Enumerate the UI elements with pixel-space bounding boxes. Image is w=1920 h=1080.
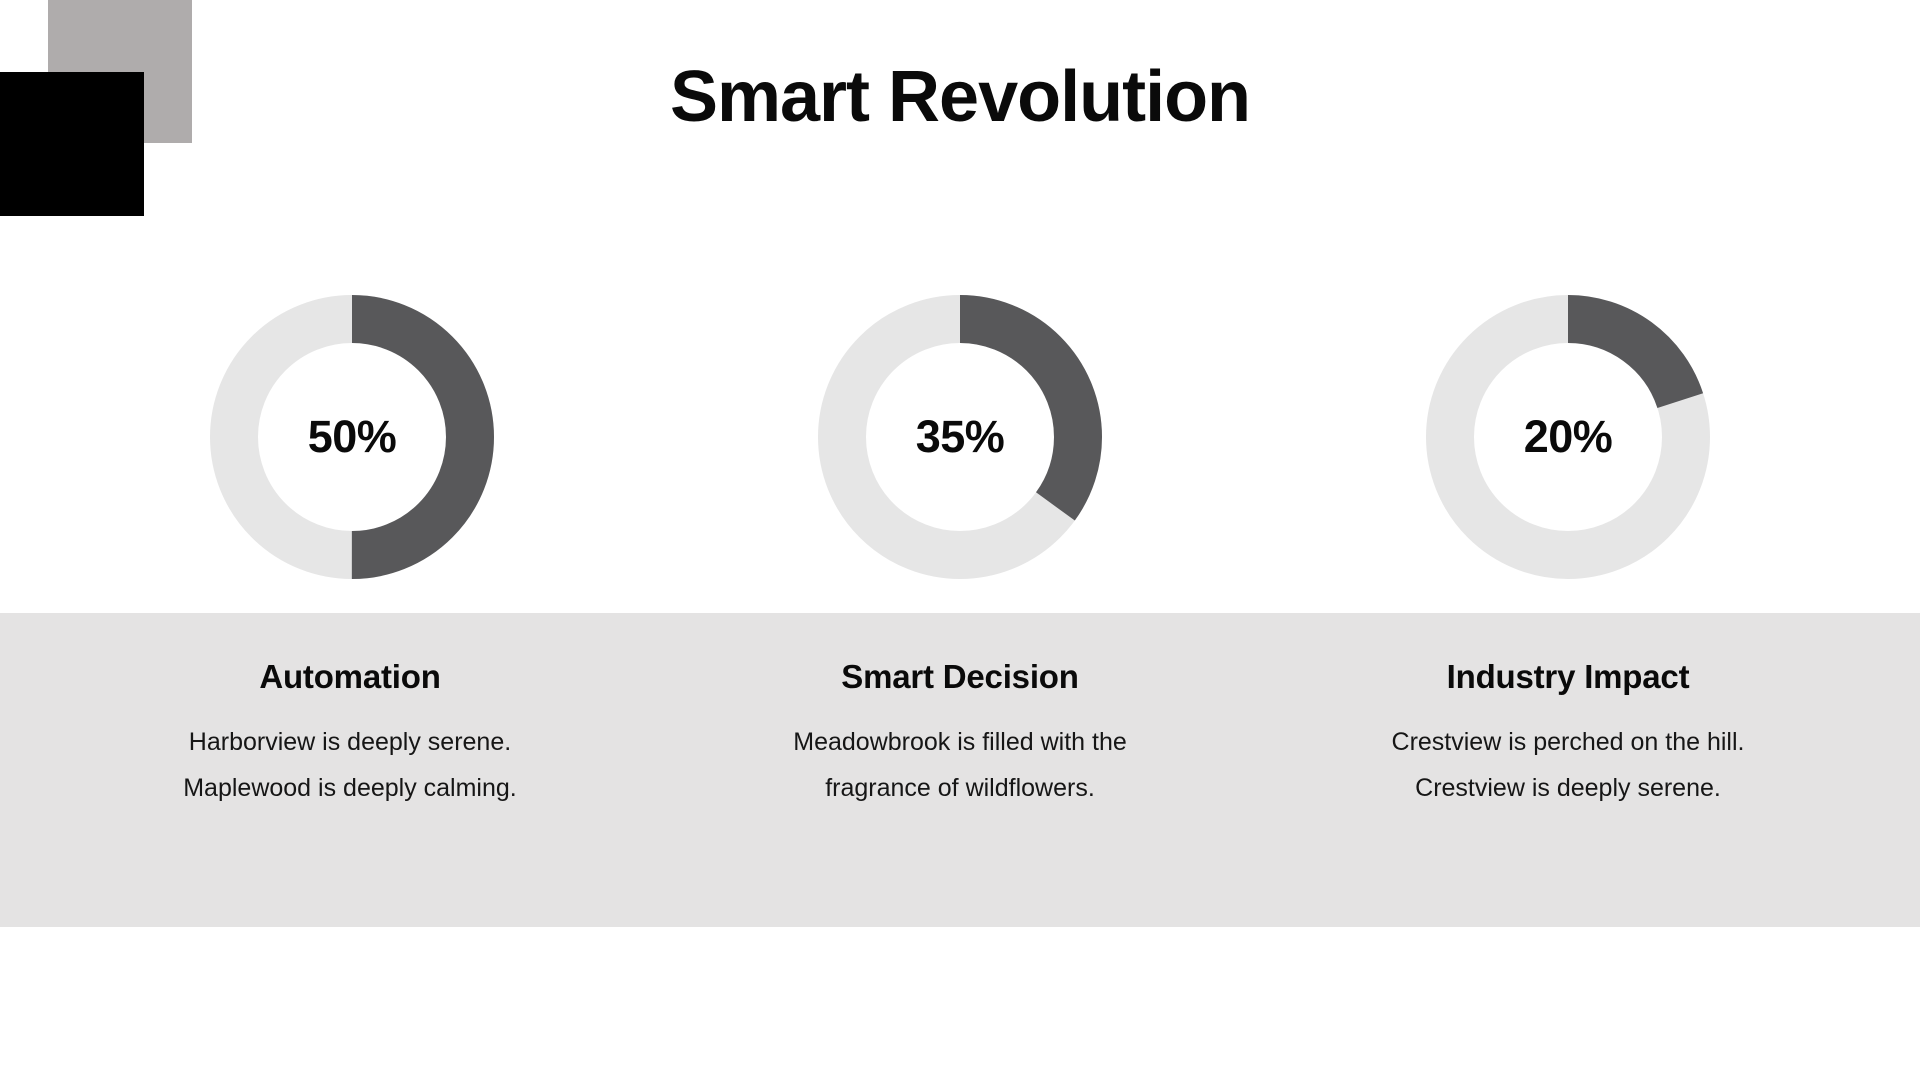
card-body-1: Harborview is deeply serene. Maplewood i… xyxy=(140,719,560,812)
card-smart-decision: Smart Decision Meadowbrook is filled wit… xyxy=(750,613,1170,812)
card-body-2: Meadowbrook is filled with the fragrance… xyxy=(750,719,1170,812)
page-title: Smart Revolution xyxy=(0,58,1920,137)
donut-chart-industry-impact: 20% xyxy=(1423,292,1713,582)
card-body-3: Crestview is perched on the hill. Crestv… xyxy=(1358,719,1778,812)
donut-value-label-1: 50% xyxy=(207,292,497,582)
donut-value-label-2: 35% xyxy=(815,292,1105,582)
donut-chart-automation: 50% xyxy=(207,292,497,582)
card-title-3: Industry Impact xyxy=(1358,657,1778,697)
card-title-2: Smart Decision xyxy=(750,657,1170,697)
card-title-1: Automation xyxy=(140,657,560,697)
donut-value-label-3: 20% xyxy=(1423,292,1713,582)
card-row: Automation Harborview is deeply serene. … xyxy=(0,613,1920,927)
card-automation: Automation Harborview is deeply serene. … xyxy=(140,613,560,812)
donut-chart-row: 50% 35% 20% xyxy=(0,292,1920,582)
card-industry-impact: Industry Impact Crestview is perched on … xyxy=(1358,613,1778,812)
donut-chart-smart-decision: 35% xyxy=(815,292,1105,582)
